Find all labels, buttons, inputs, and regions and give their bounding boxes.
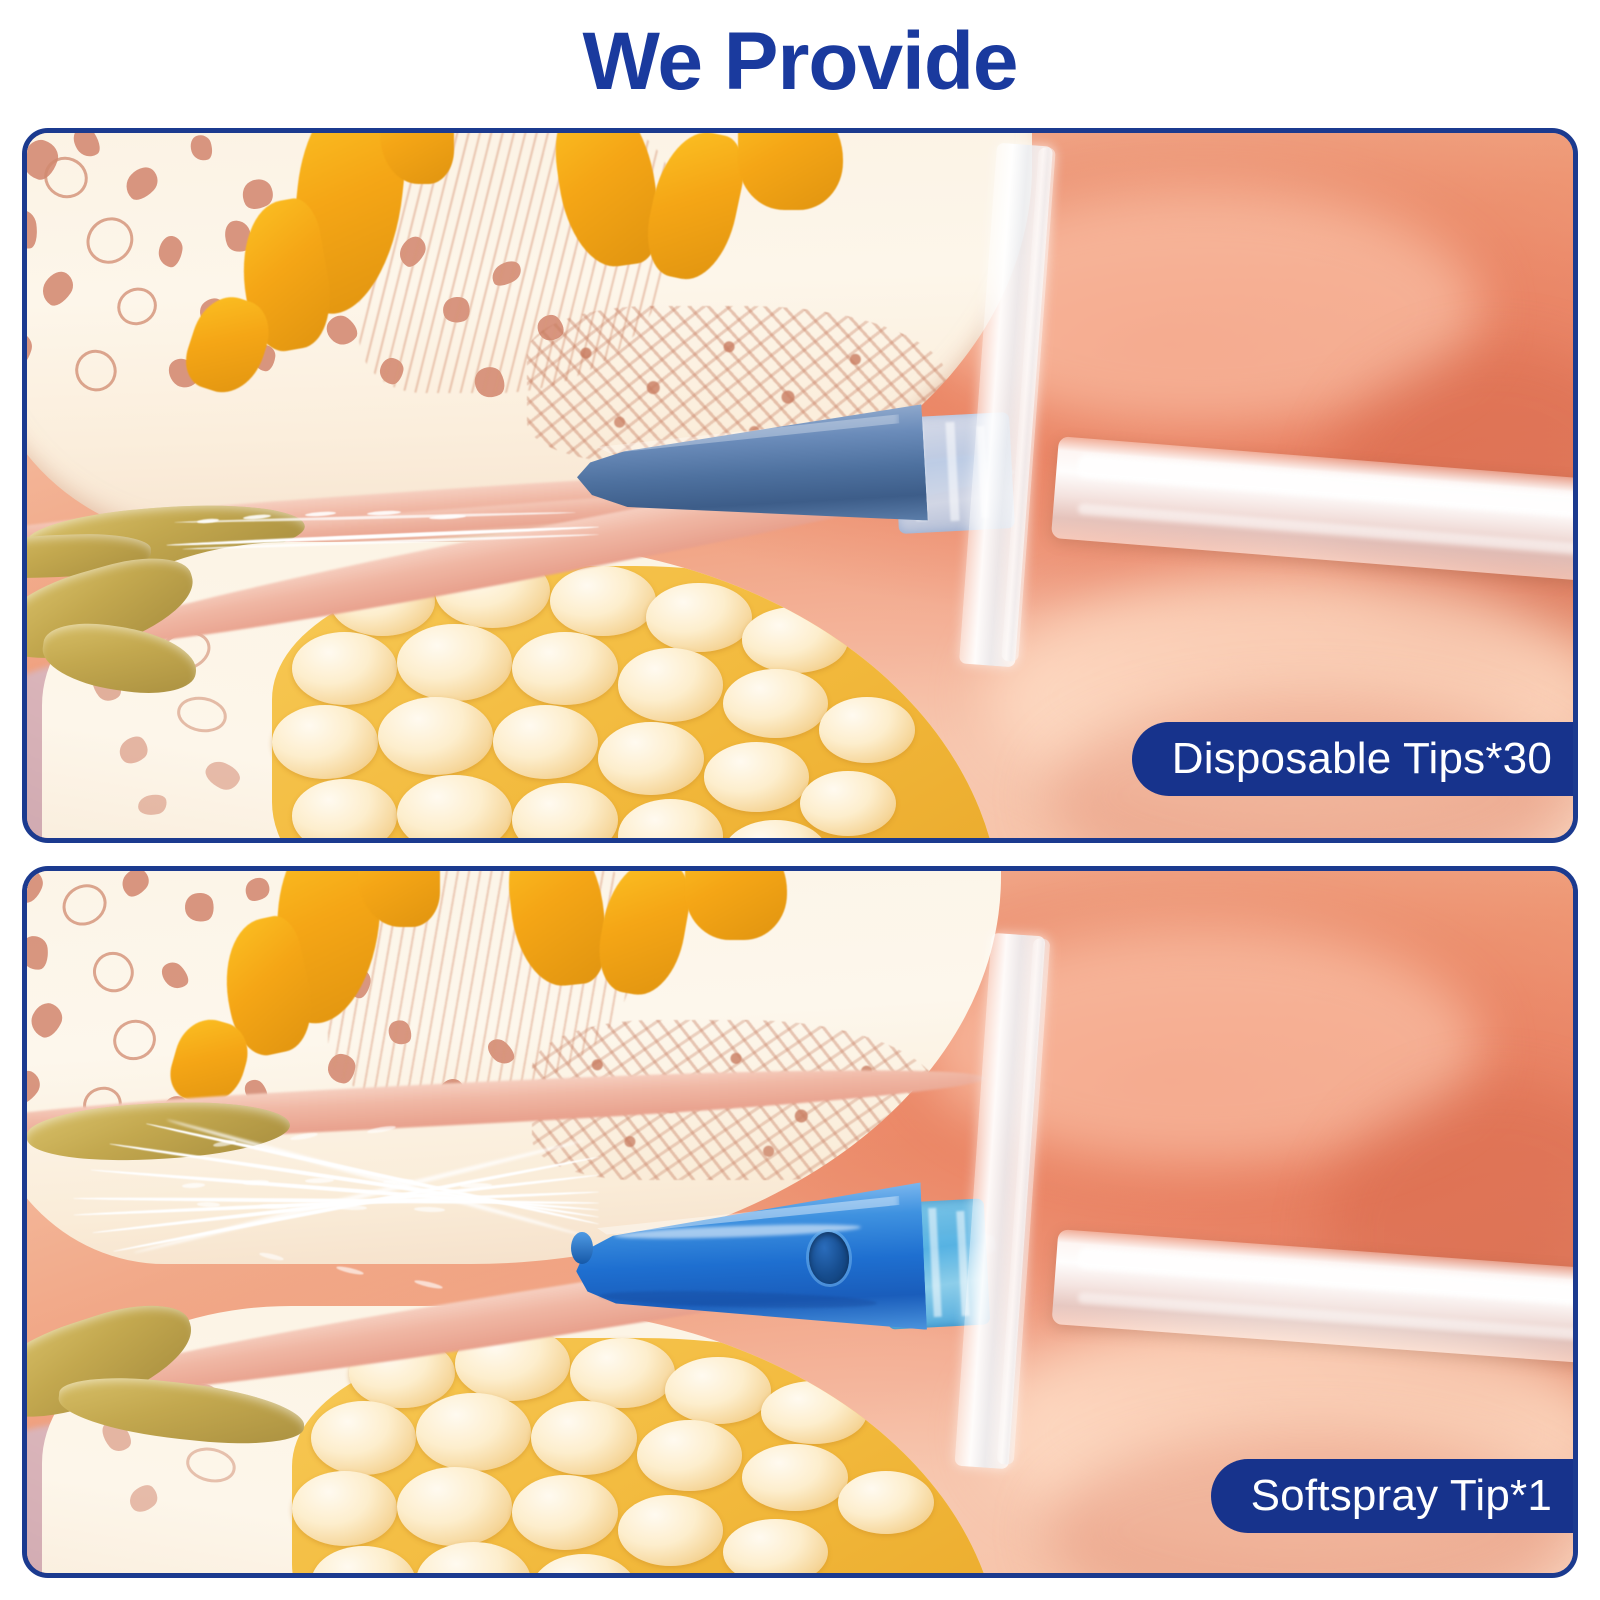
badge-softspray-tip: Softspray Tip*1: [1211, 1459, 1578, 1533]
page-title: We Provide: [0, 12, 1600, 112]
product-panel-disposable-tips: Disposable Tips*30: [22, 128, 1578, 843]
tartar-deposit: [738, 133, 843, 210]
product-panel-softspray-tip: Softspray Tip*1: [22, 866, 1578, 1578]
badge-disposable-tips: Disposable Tips*30: [1132, 722, 1578, 796]
infographic-page: We Provide: [0, 0, 1600, 1600]
tartar-deposit: [685, 871, 787, 940]
tip-nose-tip: [571, 1232, 593, 1264]
